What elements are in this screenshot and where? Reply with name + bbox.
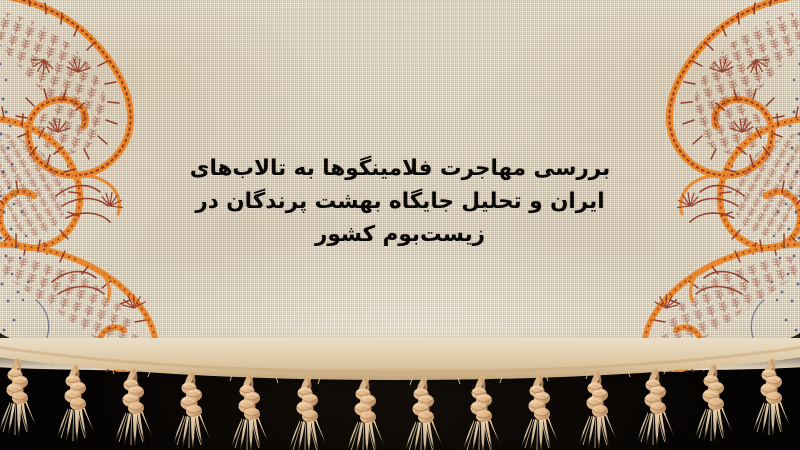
title-line-2: ایران و تحلیل جایگاه بهشت پرندگان در	[0, 185, 800, 218]
title-line-3: زیست‌بوم کشور	[0, 218, 800, 251]
title-card-canvas: بررسی مهاجرت فلامینگوها به تالاب‌های ایر…	[0, 0, 800, 450]
page-title: بررسی مهاجرت فلامینگوها به تالاب‌های ایر…	[0, 152, 800, 251]
title-line-1: بررسی مهاجرت فلامینگوها به تالاب‌های	[0, 152, 800, 185]
